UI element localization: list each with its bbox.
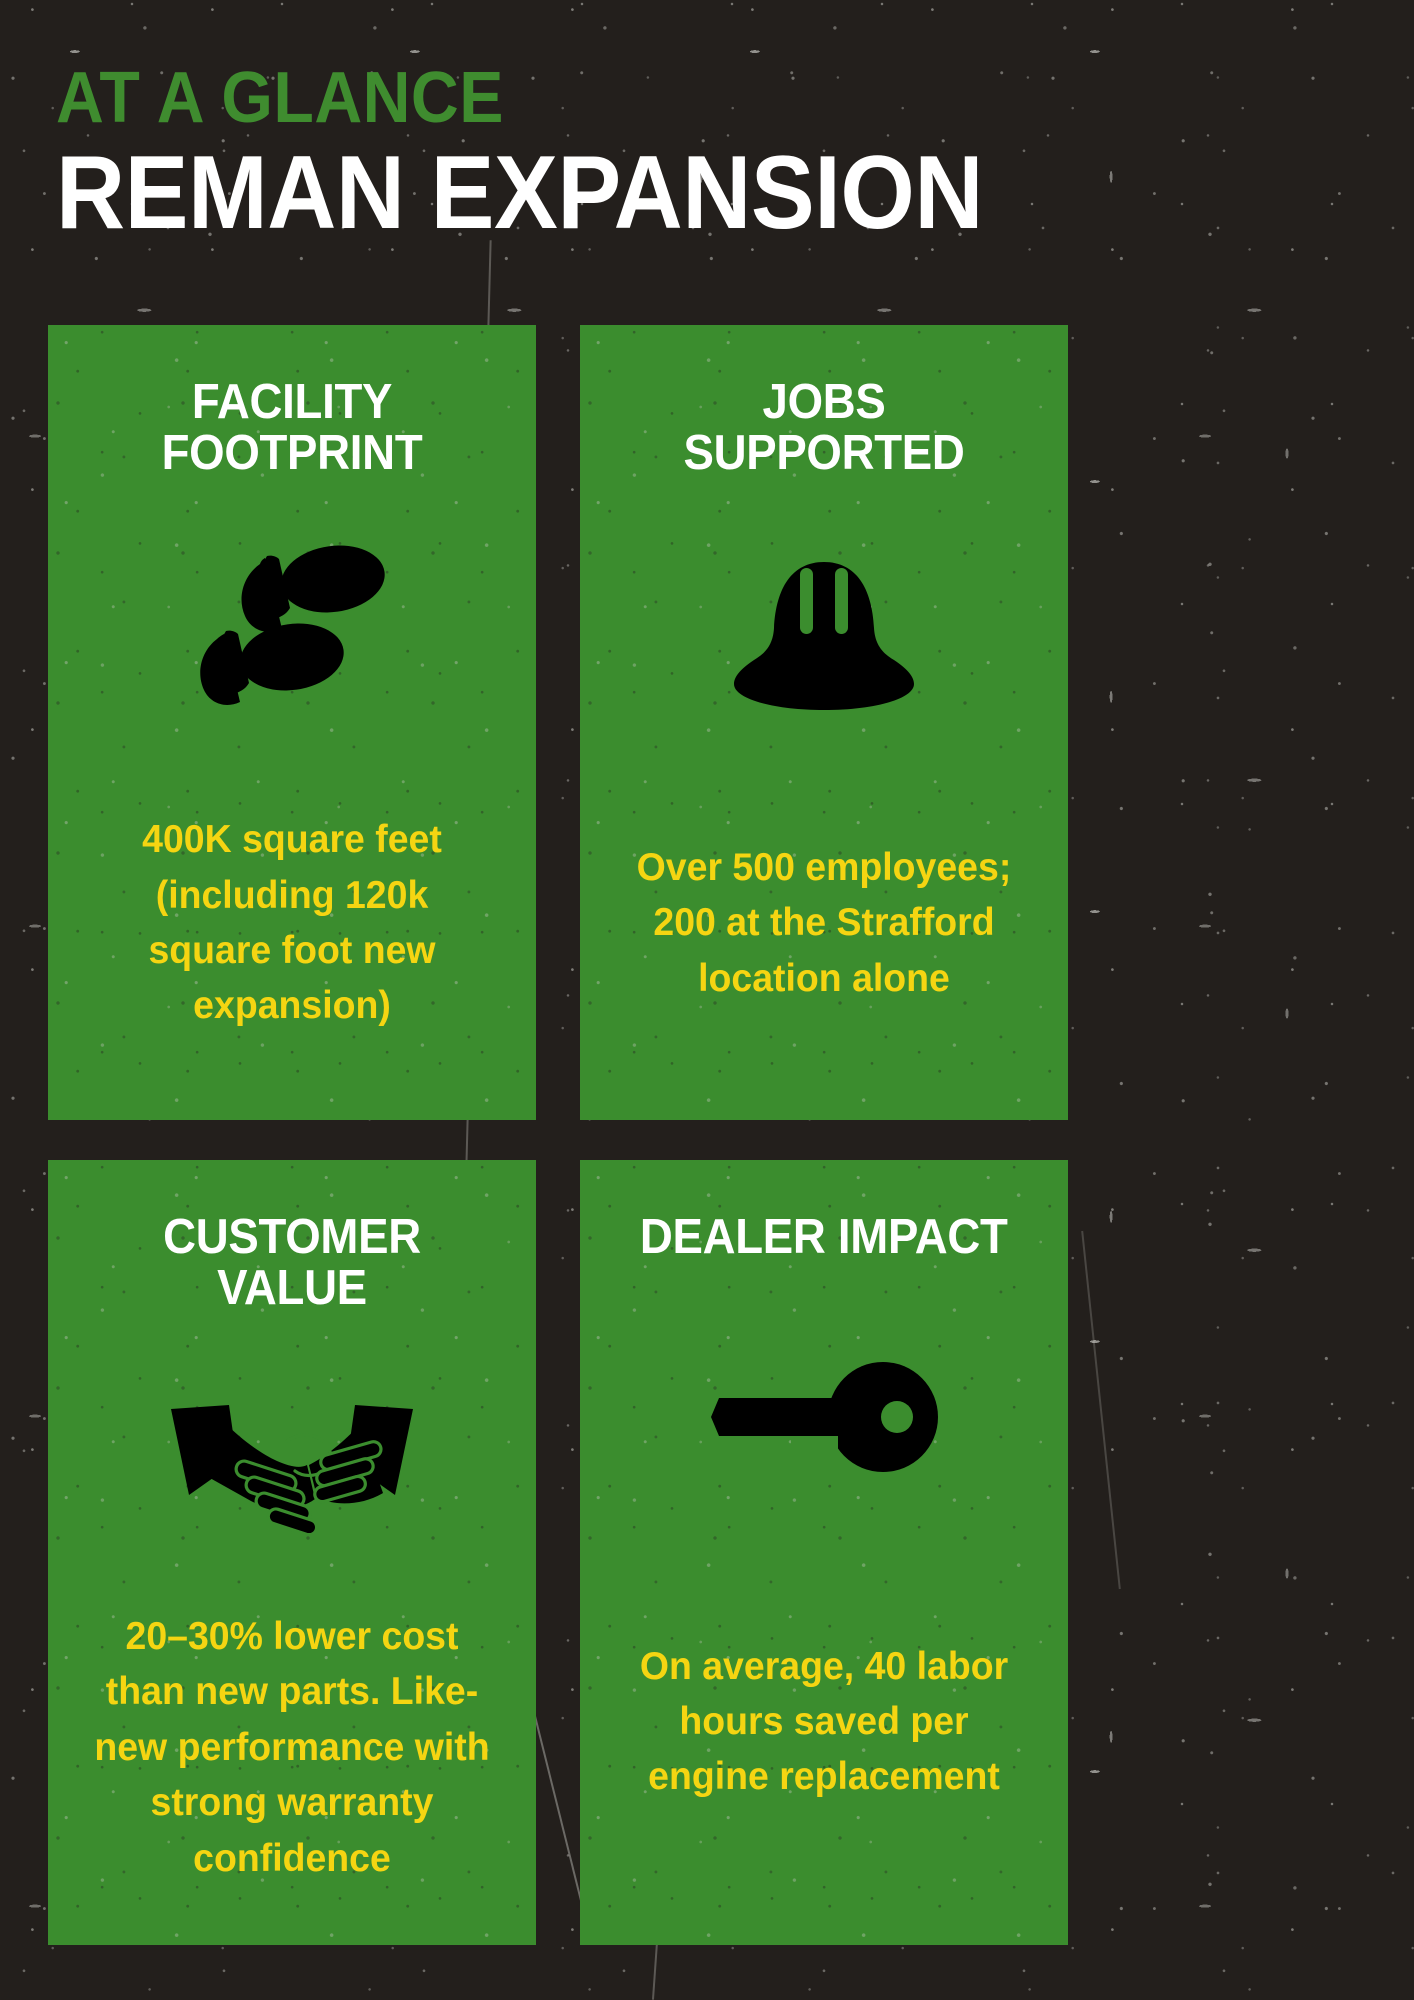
card-title: DEALER IMPACT [640, 1212, 1008, 1263]
card-icon-slot [187, 522, 397, 752]
scratch-mark [1081, 1231, 1121, 1589]
card-body-text: 20–30% lower cost than new parts. Like-n… [90, 1609, 493, 1886]
eyebrow-text: AT A GLANCE [56, 62, 1068, 134]
card-title: FACILITY FOOTPRINT [89, 377, 494, 480]
card-body-text: 400K square feet (including 120k square … [100, 812, 484, 1034]
footprints-icon [187, 534, 397, 739]
stat-card-jobs-supported: JOBS SUPPORTED Over 500 employees; 200 a… [580, 325, 1068, 1120]
card-title: JOBS SUPPORTED [621, 377, 1026, 480]
infographic-poster: AT A GLANCE REMAN EXPANSION FACILITY FOO… [0, 0, 1414, 2000]
page-title: REMAN EXPANSION [56, 140, 1068, 246]
card-icon-slot [167, 1361, 417, 1576]
card-icon-slot [707, 1309, 942, 1524]
stat-card-grid: FACILITY FOOTPRINT [48, 325, 1068, 1945]
card-body-text: Over 500 employees; 200 at the Strafford… [632, 840, 1016, 1006]
card-icon-slot [714, 522, 934, 752]
stat-card-dealer-impact: DEALER IMPACT [580, 1160, 1068, 1945]
card-title: CUSTOMER VALUE [89, 1212, 494, 1315]
poster-header: AT A GLANCE REMAN EXPANSION [56, 62, 1156, 246]
card-body-text: On average, 40 labor hours saved per eng… [622, 1639, 1025, 1805]
card-texture [580, 1160, 1068, 1945]
stat-card-customer-value: CUSTOMER VALUE [48, 1160, 536, 1945]
hard-hat-icon [714, 554, 934, 719]
key-icon [707, 1358, 942, 1476]
handshake-icon [167, 1403, 417, 1533]
stat-card-facility-footprint: FACILITY FOOTPRINT [48, 325, 536, 1120]
